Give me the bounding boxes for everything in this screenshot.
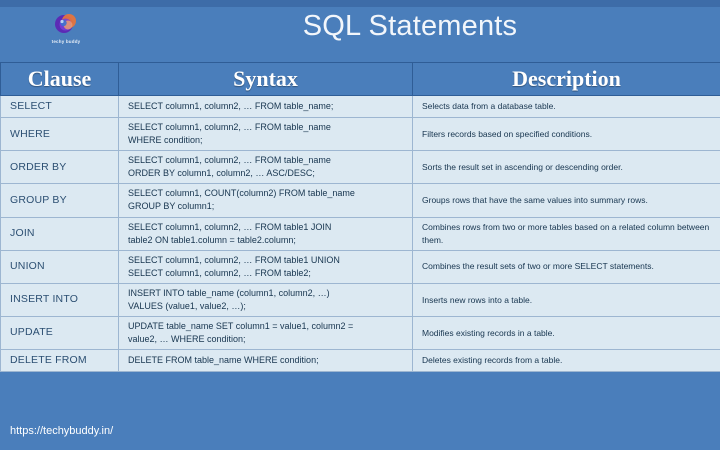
cell-description: Groups rows that have the same values in… xyxy=(413,184,720,217)
description-text: Combines rows from two or more tables ba… xyxy=(422,221,713,246)
syntax-line: SELECT column1, column2, … FROM table2; xyxy=(128,267,405,280)
syntax-line: GROUP BY column1; xyxy=(128,200,405,213)
brand-logo-text: techy buddy xyxy=(52,39,81,44)
column-header-syntax: Syntax xyxy=(119,63,413,96)
cell-description: Selects data from a database table. xyxy=(413,96,720,118)
syntax-line: INSERT INTO table_name (column1, column2… xyxy=(128,287,405,300)
syntax-line: SELECT column1, column2, … FROM table_na… xyxy=(128,121,405,134)
syntax-line: SELECT column1, column2, … FROM table1 J… xyxy=(128,221,405,234)
syntax-line: value2, … WHERE condition; xyxy=(128,333,405,346)
description-text: Sorts the result set in ascending or des… xyxy=(422,161,713,173)
table-row: WHERE SELECT column1, column2, … FROM ta… xyxy=(1,118,720,151)
cell-syntax: SELECT column1, column2, … FROM table_na… xyxy=(119,151,413,184)
cell-description: Modifies existing records in a table. xyxy=(413,316,720,349)
cell-clause: WHERE xyxy=(1,118,119,151)
top-accent-band xyxy=(0,0,720,7)
syntax-line: SELECT column1, column2, … FROM table_na… xyxy=(128,154,405,167)
table-header-row: Clause Syntax Description xyxy=(1,63,720,96)
syntax-line: ORDER BY column1, column2, … ASC/DESC; xyxy=(128,167,405,180)
table-body: SELECT SELECT column1, column2, … FROM t… xyxy=(1,96,720,372)
table-row: ORDER BY SELECT column1, column2, … FROM… xyxy=(1,151,720,184)
cell-syntax: SELECT column1, column2, … FROM table_na… xyxy=(119,96,413,118)
column-header-clause: Clause xyxy=(1,63,119,96)
cell-description: Filters records based on specified condi… xyxy=(413,118,720,151)
cell-syntax: SELECT column1, column2, … FROM table1 J… xyxy=(119,217,413,250)
table-row: JOIN SELECT column1, column2, … FROM tab… xyxy=(1,217,720,250)
cell-clause: INSERT INTO xyxy=(1,283,119,316)
description-text: Filters records based on specified condi… xyxy=(422,128,713,140)
cell-clause: JOIN xyxy=(1,217,119,250)
table-row: GROUP BY SELECT column1, COUNT(column2) … xyxy=(1,184,720,217)
slide: techy buddy SQL Statements Clause Syntax… xyxy=(0,0,720,450)
cell-description: Combines rows from two or more tables ba… xyxy=(413,217,720,250)
slide-footer: https://techybuddy.in/ xyxy=(0,417,720,450)
cell-clause: SELECT xyxy=(1,96,119,118)
column-header-description: Description xyxy=(413,63,720,96)
description-text: Modifies existing records in a table. xyxy=(422,327,713,339)
table-row: SELECT SELECT column1, column2, … FROM t… xyxy=(1,96,720,118)
sql-statements-table: Clause Syntax Description SELECT SELECT … xyxy=(0,62,720,372)
cell-description: Combines the result sets of two or more … xyxy=(413,250,720,283)
table-row: UPDATE UPDATE table_name SET column1 = v… xyxy=(1,316,720,349)
cell-syntax: SELECT column1, column2, … FROM table_na… xyxy=(119,118,413,151)
syntax-line: SELECT column1, COUNT(column2) FROM tabl… xyxy=(128,187,405,200)
brand-logo: techy buddy xyxy=(44,11,88,53)
cell-clause: GROUP BY xyxy=(1,184,119,217)
cell-syntax: SELECT column1, column2, … FROM table1 U… xyxy=(119,250,413,283)
footer-website-url[interactable]: https://techybuddy.in/ xyxy=(10,425,113,437)
cell-syntax: DELETE FROM table_name WHERE condition; xyxy=(119,349,413,371)
syntax-line: UPDATE table_name SET column1 = value1, … xyxy=(128,320,405,333)
syntax-line: SELECT column1, column2, … FROM table1 U… xyxy=(128,254,405,267)
syntax-line: VALUES (value1, value2, …); xyxy=(128,300,405,313)
techybuddy-logo-icon xyxy=(53,11,79,37)
cell-syntax: UPDATE table_name SET column1 = value1, … xyxy=(119,316,413,349)
slide-header: techy buddy SQL Statements xyxy=(0,7,720,62)
table-row: INSERT INTO INSERT INTO table_name (colu… xyxy=(1,283,720,316)
table-header: Clause Syntax Description xyxy=(1,63,720,96)
cell-syntax: INSERT INTO table_name (column1, column2… xyxy=(119,283,413,316)
table-row: DELETE FROM DELETE FROM table_name WHERE… xyxy=(1,349,720,371)
syntax-line: DELETE FROM table_name WHERE condition; xyxy=(128,354,405,367)
table-row: UNION SELECT column1, column2, … FROM ta… xyxy=(1,250,720,283)
cell-description: Inserts new rows into a table. xyxy=(413,283,720,316)
cell-clause: UPDATE xyxy=(1,316,119,349)
description-text: Groups rows that have the same values in… xyxy=(422,194,713,206)
page-title: SQL Statements xyxy=(120,10,700,43)
description-text: Deletes existing records from a table. xyxy=(422,354,713,366)
syntax-line: SELECT column1, column2, … FROM table_na… xyxy=(128,100,405,113)
cell-clause: DELETE FROM xyxy=(1,349,119,371)
description-text: Combines the result sets of two or more … xyxy=(422,260,713,272)
cell-description: Sorts the result set in ascending or des… xyxy=(413,151,720,184)
description-text: Inserts new rows into a table. xyxy=(422,294,713,306)
description-text: Selects data from a database table. xyxy=(422,100,713,112)
syntax-line: WHERE condition; xyxy=(128,134,405,147)
cell-description: Deletes existing records from a table. xyxy=(413,349,720,371)
cell-clause: ORDER BY xyxy=(1,151,119,184)
syntax-line: table2 ON table1.column = table2.column; xyxy=(128,234,405,247)
cell-clause: UNION xyxy=(1,250,119,283)
cell-syntax: SELECT column1, COUNT(column2) FROM tabl… xyxy=(119,184,413,217)
